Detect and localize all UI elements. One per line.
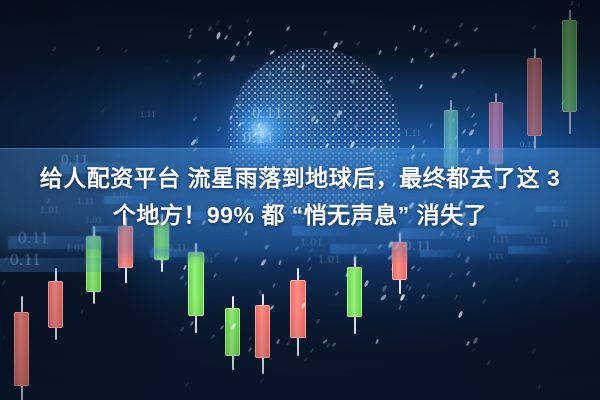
banner-image: 0.110.211.113.110.111.111.011.110.110.11… (0, 0, 600, 400)
vignette-overlay (0, 0, 600, 400)
